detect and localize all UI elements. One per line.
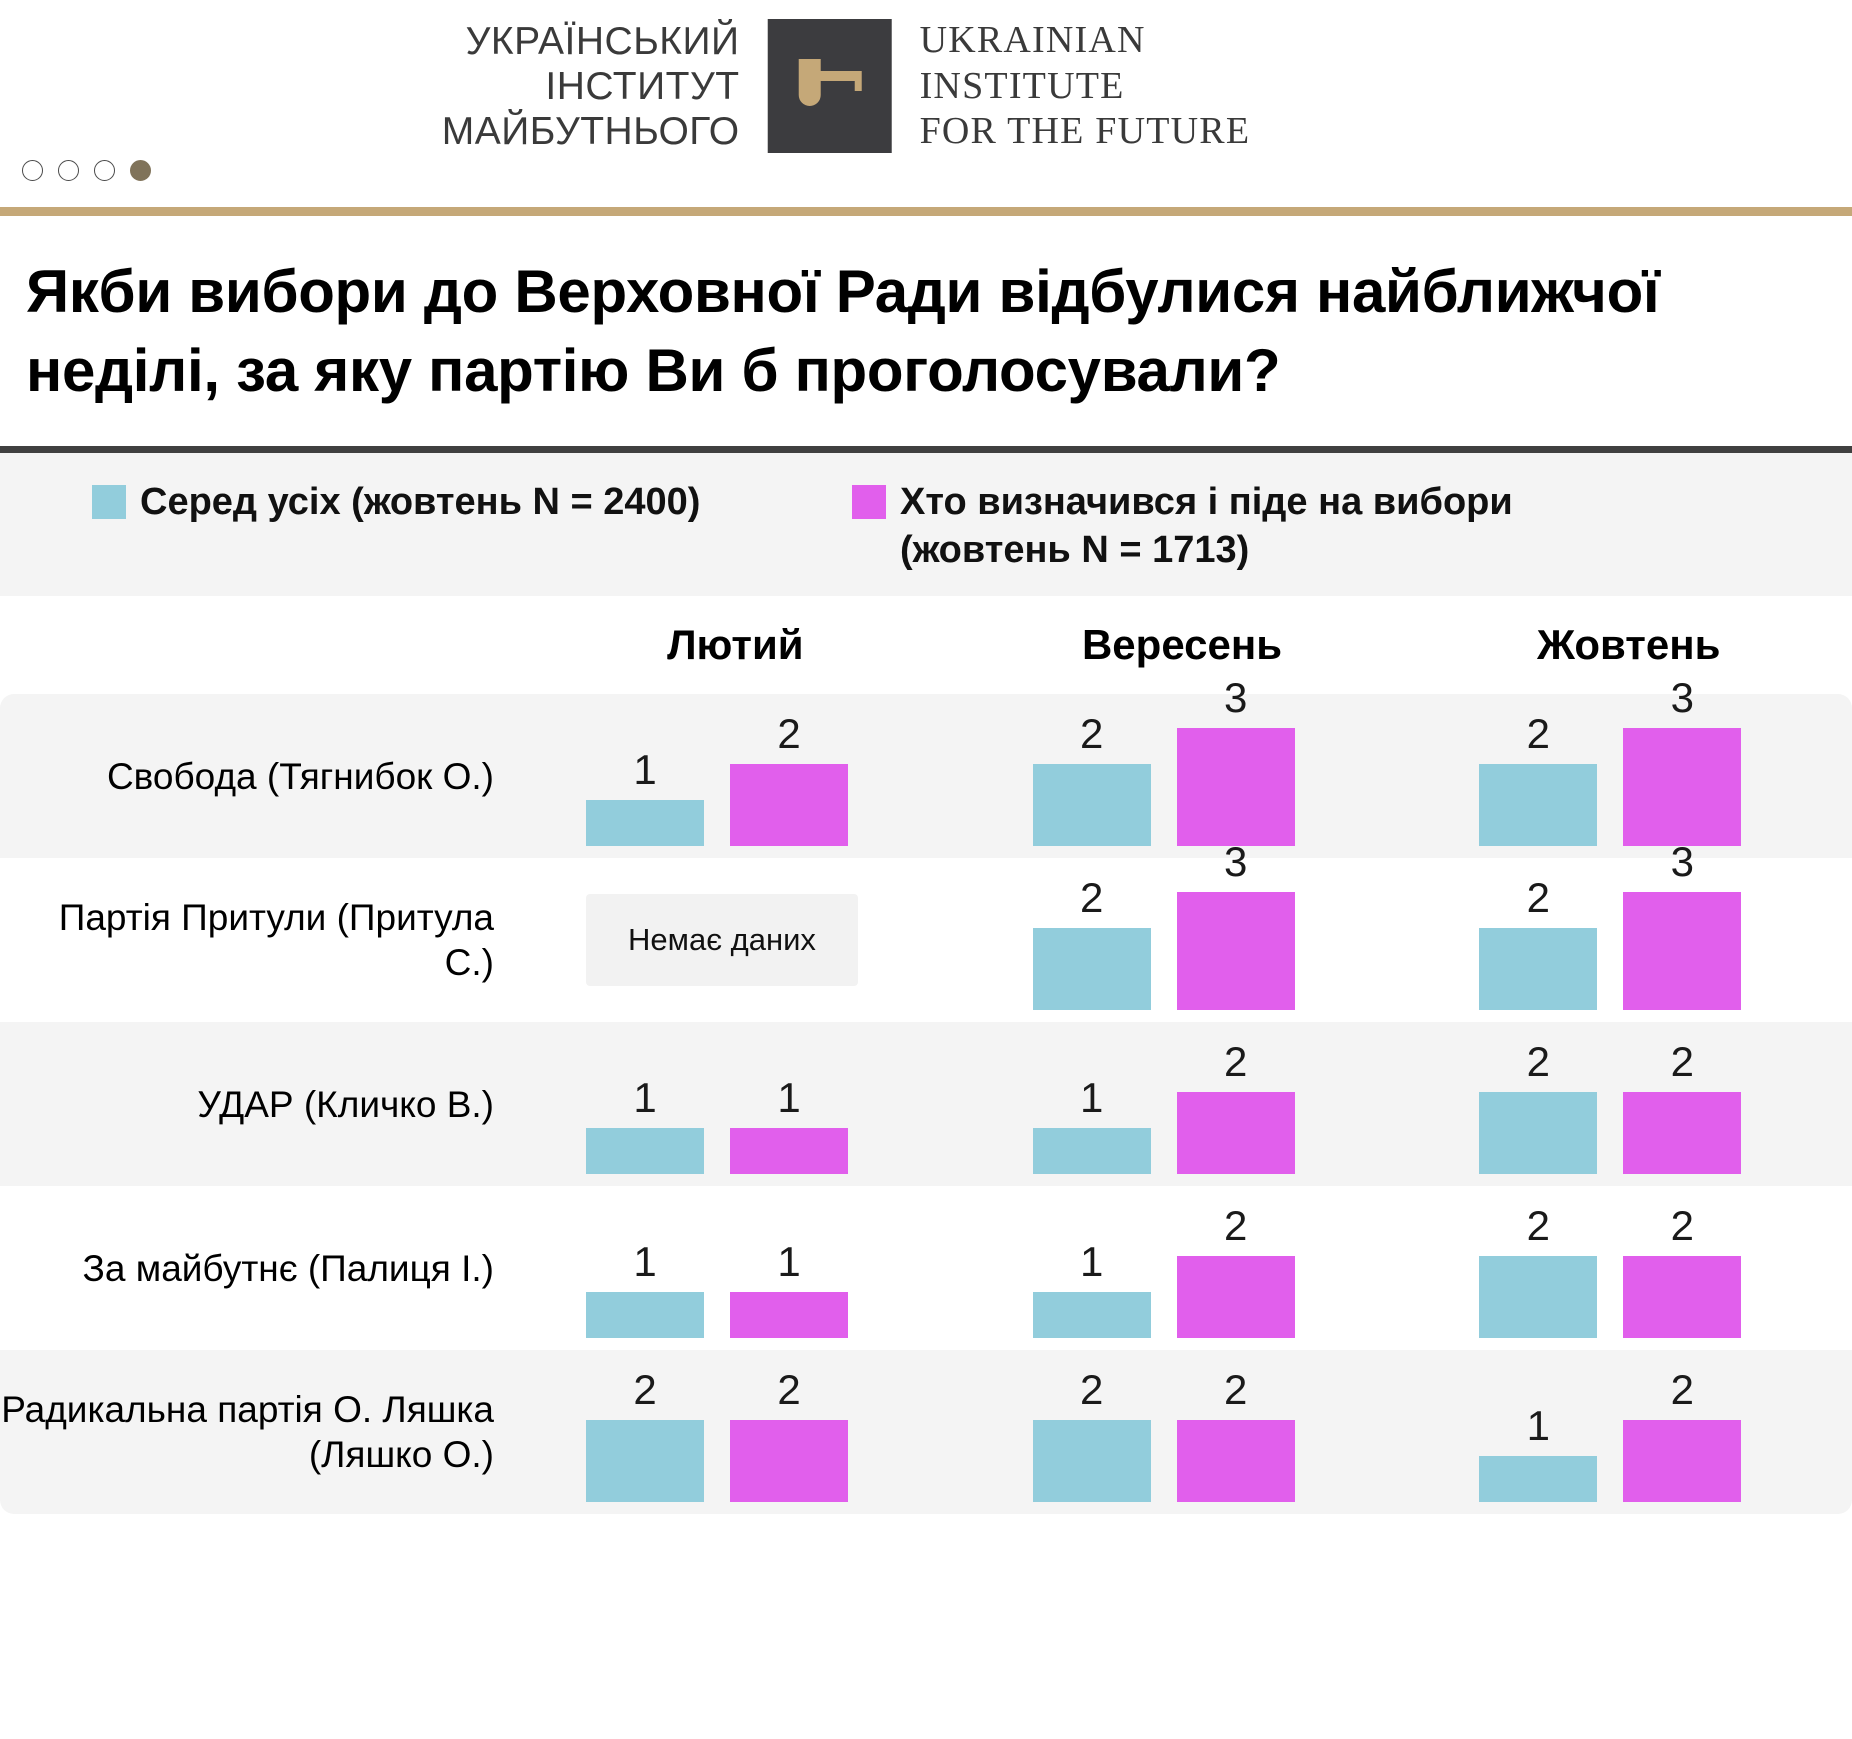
- row-label-cell: УДАР (Кличко В.): [0, 1022, 512, 1186]
- logo-ua-line-1: Український: [442, 19, 740, 64]
- bar-all: [586, 1292, 704, 1338]
- party-name: За майбутнє (Палиця І.): [83, 1246, 494, 1291]
- column-header-october: Жовтень: [1405, 621, 1852, 669]
- bar-value-label: 2: [1224, 1205, 1247, 1247]
- row-label-cell: Свобода (Тягнибок О.): [0, 694, 512, 858]
- bar-group-decided: 1: [730, 1241, 848, 1338]
- row-label-cell: За майбутнє (Палиця І.): [0, 1186, 512, 1350]
- bar-cell: 12: [1405, 1350, 1852, 1514]
- logo-en-line-3: for the Future: [920, 109, 1251, 155]
- party-name: Партія Притули (Притула С.): [0, 895, 494, 985]
- bar-all: [1033, 928, 1151, 1010]
- bar-group-all: 1: [1033, 1077, 1151, 1174]
- bar-decided: [1177, 1092, 1295, 1174]
- page-title: Якби вибори до Верховної Ради відбулися …: [26, 252, 1826, 410]
- bar-group-decided: 2: [730, 713, 848, 846]
- bar-decided: [1623, 728, 1741, 846]
- bar-value-label: 1: [777, 1241, 800, 1283]
- bar-value-label: 2: [1527, 713, 1550, 755]
- bar-value-label: 2: [1671, 1205, 1694, 1247]
- bar-cell: 11: [512, 1022, 959, 1186]
- bar-cell: 12: [959, 1186, 1406, 1350]
- gold-divider: [0, 207, 1852, 216]
- bar-value-label: 1: [1080, 1241, 1103, 1283]
- bar-group-decided: 2: [1623, 1205, 1741, 1338]
- page-header: Український Інститут Майбутнього Ukraini…: [0, 0, 1852, 175]
- bar-all: [1033, 1420, 1151, 1502]
- logo-ua-line-3: Майбутнього: [442, 109, 740, 154]
- bar-value-label: 2: [1224, 1369, 1247, 1411]
- bar-cell: 12: [959, 1022, 1406, 1186]
- bar-group-all: 2: [586, 1369, 704, 1502]
- column-header-label: Лютий: [667, 621, 804, 668]
- table-row: Свобода (Тягнибок О.)122323: [0, 694, 1852, 858]
- bar-cell: 22: [1405, 1186, 1852, 1350]
- bar-group-all: 1: [586, 749, 704, 846]
- column-header-february: Лютий: [512, 621, 959, 669]
- bar-group-all: 1: [1479, 1405, 1597, 1502]
- bar-value-label: 2: [1527, 1205, 1550, 1247]
- bar-value-label: 2: [1224, 1041, 1247, 1083]
- bar-cell: 12: [512, 694, 959, 858]
- bar-value-label: 1: [633, 1241, 656, 1283]
- bar-value-label: 2: [1527, 877, 1550, 919]
- bar-value-label: 1: [1527, 1405, 1550, 1447]
- bar-group-all: 2: [1479, 877, 1597, 1010]
- bar-cell: 22: [1405, 1022, 1852, 1186]
- bar-group-decided: 3: [1177, 677, 1295, 846]
- bar-group-decided: 1: [730, 1077, 848, 1174]
- logo-text-ua: Український Інститут Майбутнього: [442, 19, 768, 155]
- bar-group-decided: 2: [1177, 1369, 1295, 1502]
- bar-value-label: 3: [1224, 841, 1247, 883]
- legend-label-all: Серед усіх (жовтень N = 2400): [140, 479, 700, 527]
- bar-group-all: 1: [586, 1241, 704, 1338]
- legend-item-all: Серед усіх (жовтень N = 2400): [92, 479, 852, 527]
- bar-cell: 23: [959, 694, 1406, 858]
- bar-value-label: 1: [777, 1077, 800, 1119]
- bar-all: [1033, 1128, 1151, 1174]
- bar-value-label: 1: [633, 1077, 656, 1119]
- bar-cell: 22: [959, 1350, 1406, 1514]
- bar-group-all: 2: [1033, 713, 1151, 846]
- bar-all: [1033, 1292, 1151, 1338]
- title-block: Якби вибори до Верховної Ради відбулися …: [0, 216, 1852, 420]
- table-row: Радикальна партія О. Ляшка (Ляшко О.)222…: [0, 1350, 1852, 1514]
- bar-value-label: 2: [777, 713, 800, 755]
- bar-all: [1479, 1092, 1597, 1174]
- pagination-dot-3[interactable]: [94, 160, 115, 181]
- bar-group-decided: 2: [1623, 1369, 1741, 1502]
- bar-group-all: 2: [1033, 1369, 1151, 1502]
- legend-swatch-all: [92, 485, 126, 519]
- bar-all: [586, 800, 704, 846]
- table-row: УДАР (Кличко В.)111222: [0, 1022, 1852, 1186]
- key-icon: [793, 57, 867, 115]
- table-row: Партія Притули (Притула С.)Немає даних23…: [0, 858, 1852, 1022]
- column-header-row: Лютий Вересень Жовтень: [0, 596, 1852, 694]
- bar-group-decided: 3: [1623, 677, 1741, 846]
- bar-value-label: 1: [1080, 1077, 1103, 1119]
- bar-group-decided: 2: [1623, 1041, 1741, 1174]
- bar-group-all: 2: [1479, 1205, 1597, 1338]
- bar-decided: [1623, 1420, 1741, 1502]
- pagination-dot-4-active[interactable]: [130, 160, 151, 181]
- bar-cell: 23: [1405, 858, 1852, 1022]
- logo: Український Інститут Майбутнього Ukraini…: [442, 18, 1251, 155]
- bar-cell: 22: [512, 1350, 959, 1514]
- bar-group-decided: 3: [1623, 841, 1741, 1010]
- legend-label-decided: Хто визначився і піде на вибори (жовтень…: [900, 479, 1660, 574]
- party-name: УДАР (Кличко В.): [197, 1082, 494, 1127]
- bar-group-all: 2: [1033, 877, 1151, 1010]
- chart-legend: Серед усіх (жовтень N = 2400) Хто визнач…: [0, 453, 1852, 596]
- bar-decided: [730, 1292, 848, 1338]
- legend-swatch-decided: [852, 485, 886, 519]
- bar-group-decided: 2: [1177, 1205, 1295, 1338]
- bar-cell: 11: [512, 1186, 959, 1350]
- bar-group-decided: 2: [1177, 1041, 1295, 1174]
- column-header-september: Вересень: [959, 621, 1406, 669]
- bar-decided: [730, 1128, 848, 1174]
- bar-decided: [730, 764, 848, 846]
- bar-group-decided: 2: [730, 1369, 848, 1502]
- bar-value-label: 2: [777, 1369, 800, 1411]
- bar-group-decided: 3: [1177, 841, 1295, 1010]
- bar-decided: [1623, 1092, 1741, 1174]
- bar-decided: [1177, 728, 1295, 846]
- party-name: Свобода (Тягнибок О.): [107, 754, 494, 799]
- bar-value-label: 2: [1671, 1041, 1694, 1083]
- bar-group-all: 2: [1479, 713, 1597, 846]
- bar-all: [1479, 1456, 1597, 1502]
- bar-value-label: 2: [633, 1369, 656, 1411]
- bar-value-label: 3: [1671, 841, 1694, 883]
- logo-ua-line-2: Інститут: [442, 64, 740, 109]
- bar-cell: 23: [1405, 694, 1852, 858]
- pagination-dots[interactable]: [22, 160, 151, 181]
- bar-all: [1033, 764, 1151, 846]
- pagination-dot-2[interactable]: [58, 160, 79, 181]
- bar-all: [1479, 928, 1597, 1010]
- dark-divider: [0, 446, 1852, 453]
- bar-cell: Немає даних: [512, 858, 959, 1022]
- row-label-cell: Радикальна партія О. Ляшка (Ляшко О.): [0, 1350, 512, 1514]
- bar-value-label: 3: [1224, 677, 1247, 719]
- bar-decided: [1177, 1420, 1295, 1502]
- bar-value-label: 2: [1671, 1369, 1694, 1411]
- bar-decided: [1177, 1256, 1295, 1338]
- party-name: Радикальна партія О. Ляшка (Ляшко О.): [0, 1387, 494, 1477]
- row-label-cell: Партія Притули (Притула С.): [0, 858, 512, 1022]
- bar-value-label: 2: [1527, 1041, 1550, 1083]
- bar-decided: [1623, 1256, 1741, 1338]
- logo-en-line-2: Institute: [920, 64, 1251, 110]
- bar-decided: [1623, 892, 1741, 1010]
- bar-decided: [730, 1420, 848, 1502]
- logo-mark: [768, 19, 892, 153]
- bar-decided: [1177, 892, 1295, 1010]
- pagination-dot-1[interactable]: [22, 160, 43, 181]
- column-header-label: Жовтень: [1537, 621, 1720, 668]
- table-row: За майбутнє (Палиця І.)111222: [0, 1186, 1852, 1350]
- bar-value-label: 2: [1080, 877, 1103, 919]
- bar-group-all: 1: [1033, 1241, 1151, 1338]
- logo-en-line-1: Ukrainian: [920, 18, 1251, 64]
- bar-group-all: 2: [1479, 1041, 1597, 1174]
- bar-all: [586, 1128, 704, 1174]
- bar-all: [586, 1420, 704, 1502]
- logo-text-en: Ukrainian Institute for the Future: [892, 18, 1251, 155]
- bar-all: [1479, 1256, 1597, 1338]
- column-header-label: Вересень: [1082, 621, 1282, 668]
- bar-value-label: 2: [1080, 713, 1103, 755]
- chart-rows: Свобода (Тягнибок О.)122323Партія Притул…: [0, 694, 1852, 1514]
- legend-item-decided: Хто визначився і піде на вибори (жовтень…: [852, 479, 1660, 574]
- bar-all: [1479, 764, 1597, 846]
- bar-value-label: 2: [1080, 1369, 1103, 1411]
- bar-value-label: 1: [633, 749, 656, 791]
- no-data-box: Немає даних: [586, 894, 858, 986]
- bar-group-all: 1: [586, 1077, 704, 1174]
- bar-value-label: 3: [1671, 677, 1694, 719]
- bar-cell: 23: [959, 858, 1406, 1022]
